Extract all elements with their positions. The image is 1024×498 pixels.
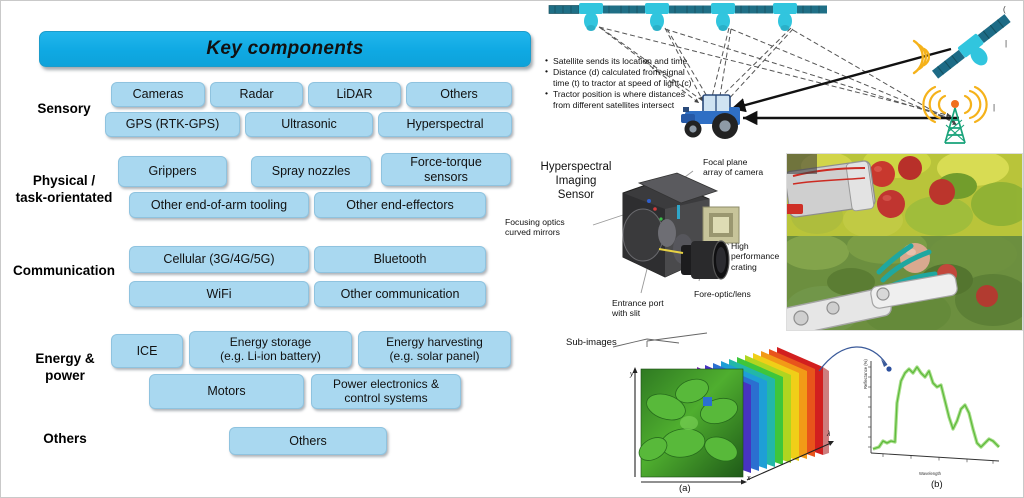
spectrum-xlabel: Wavelength <box>919 471 941 476</box>
label-fore-optic-lens: Fore-optic/lens <box>694 289 774 299</box>
row-label-energy: Energy & power <box>19 351 111 385</box>
gripper-photo-svg <box>787 236 1023 331</box>
box-motors[interactable]: Motors <box>149 374 304 409</box>
hyperspectral-cube-diagram: Sub-images <box>531 331 1023 497</box>
box-cellular[interactable]: Cellular (3G/4G/5G) <box>129 246 309 273</box>
page-title: Key components <box>206 38 363 60</box>
label-focal-plane: Focal plane array of camera <box>703 157 783 178</box>
box-cameras[interactable]: Cameras <box>111 82 205 107</box>
box-ultrasonic[interactable]: Ultrasonic <box>245 112 373 137</box>
right-illustrations-panel: d = t x c Satellite sends its location a… <box>531 1 1023 497</box>
box-bluetooth[interactable]: Bluetooth <box>314 246 486 273</box>
box-ice[interactable]: ICE <box>111 334 183 368</box>
box-other-end-effectors[interactable]: Other end-effectors <box>314 192 486 218</box>
label-high-performance-crating: High performance crating <box>731 241 789 272</box>
box-power-electronics[interactable]: Power electronics & control systems <box>311 374 461 409</box>
box-force-torque-sensors[interactable]: Force-torque sensors <box>381 153 511 186</box>
axis-label-lambda: λ <box>827 431 830 438</box>
figure-caption-b: (b) <box>931 479 943 490</box>
box-hyperspectral[interactable]: Hyperspectral <box>378 112 512 137</box>
gps-satellite-diagram: d = t x c Satellite sends its location a… <box>531 1 1023 153</box>
row-label-physical: Physical / task-orientated <box>5 173 123 207</box>
spectrum-ylabel: Reflectance (%) <box>863 359 868 389</box>
row-label-sensory: Sensory <box>19 101 109 118</box>
box-other-tooling[interactable]: Other end-of-arm tooling <box>129 192 309 218</box>
label-entrance-port: Entrance port with slit <box>612 298 688 319</box>
mark-i: | <box>993 103 995 112</box>
box-radar[interactable]: Radar <box>210 82 303 107</box>
box-energy-storage[interactable]: Energy storage (e.g. Li-ion battery) <box>189 331 352 368</box>
satellite-icon <box>743 3 827 31</box>
box-gps[interactable]: GPS (RTK-GPS) <box>105 112 240 137</box>
orchard-robot-photos <box>786 153 1023 331</box>
key-components-header: Key components <box>39 31 531 67</box>
row-label-communication: Communication <box>3 263 125 280</box>
gps-bullet-item: Tractor position is where distances from… <box>545 89 695 111</box>
cube-svg <box>531 331 1023 497</box>
figure-caption-a: (a) <box>679 483 691 494</box>
row-label-others: Others <box>19 431 111 448</box>
mark-c: ( <box>1003 5 1006 14</box>
gps-bullet-item: Distance (d) calculated from signal time… <box>545 67 695 89</box>
label-focusing-optics: Focusing optics curved mirrors <box>505 217 591 238</box>
key-components-panel: Key components Sensory Physical / task-o… <box>1 1 531 497</box>
box-grippers[interactable]: Grippers <box>118 156 227 187</box>
axis-label-y: y <box>630 371 634 378</box>
box-lidar[interactable]: LiDAR <box>308 82 401 107</box>
box-others-sensory[interactable]: Others <box>406 82 512 107</box>
large-satellite-icon <box>930 12 1021 92</box>
box-other-communication[interactable]: Other communication <box>314 281 486 307</box>
hyperspectral-sensor-diagram: Hyperspectral Imaging Sensor <box>531 153 791 335</box>
satellite-to-tractor-arrow <box>731 49 951 109</box>
box-others-bottom[interactable]: Others <box>229 427 387 455</box>
apple-harvesting-photo <box>787 154 1023 236</box>
box-spray-nozzles[interactable]: Spray nozzles <box>251 156 371 187</box>
axis-label-x: x <box>747 475 751 482</box>
box-wifi[interactable]: WiFi <box>129 281 309 307</box>
box-energy-harvesting[interactable]: Energy harvesting (e.g. solar panel) <box>358 331 511 368</box>
diagram-page: Key components Sensory Physical / task-o… <box>0 0 1024 498</box>
robotic-gripper-photo <box>787 236 1023 331</box>
apple-photo-svg <box>787 154 1023 236</box>
gps-bullet-item: Satellite sends its location and time <box>545 56 695 67</box>
mark-e: | <box>1005 39 1007 48</box>
gps-bullet-list: Satellite sends its location and time Di… <box>545 56 695 111</box>
